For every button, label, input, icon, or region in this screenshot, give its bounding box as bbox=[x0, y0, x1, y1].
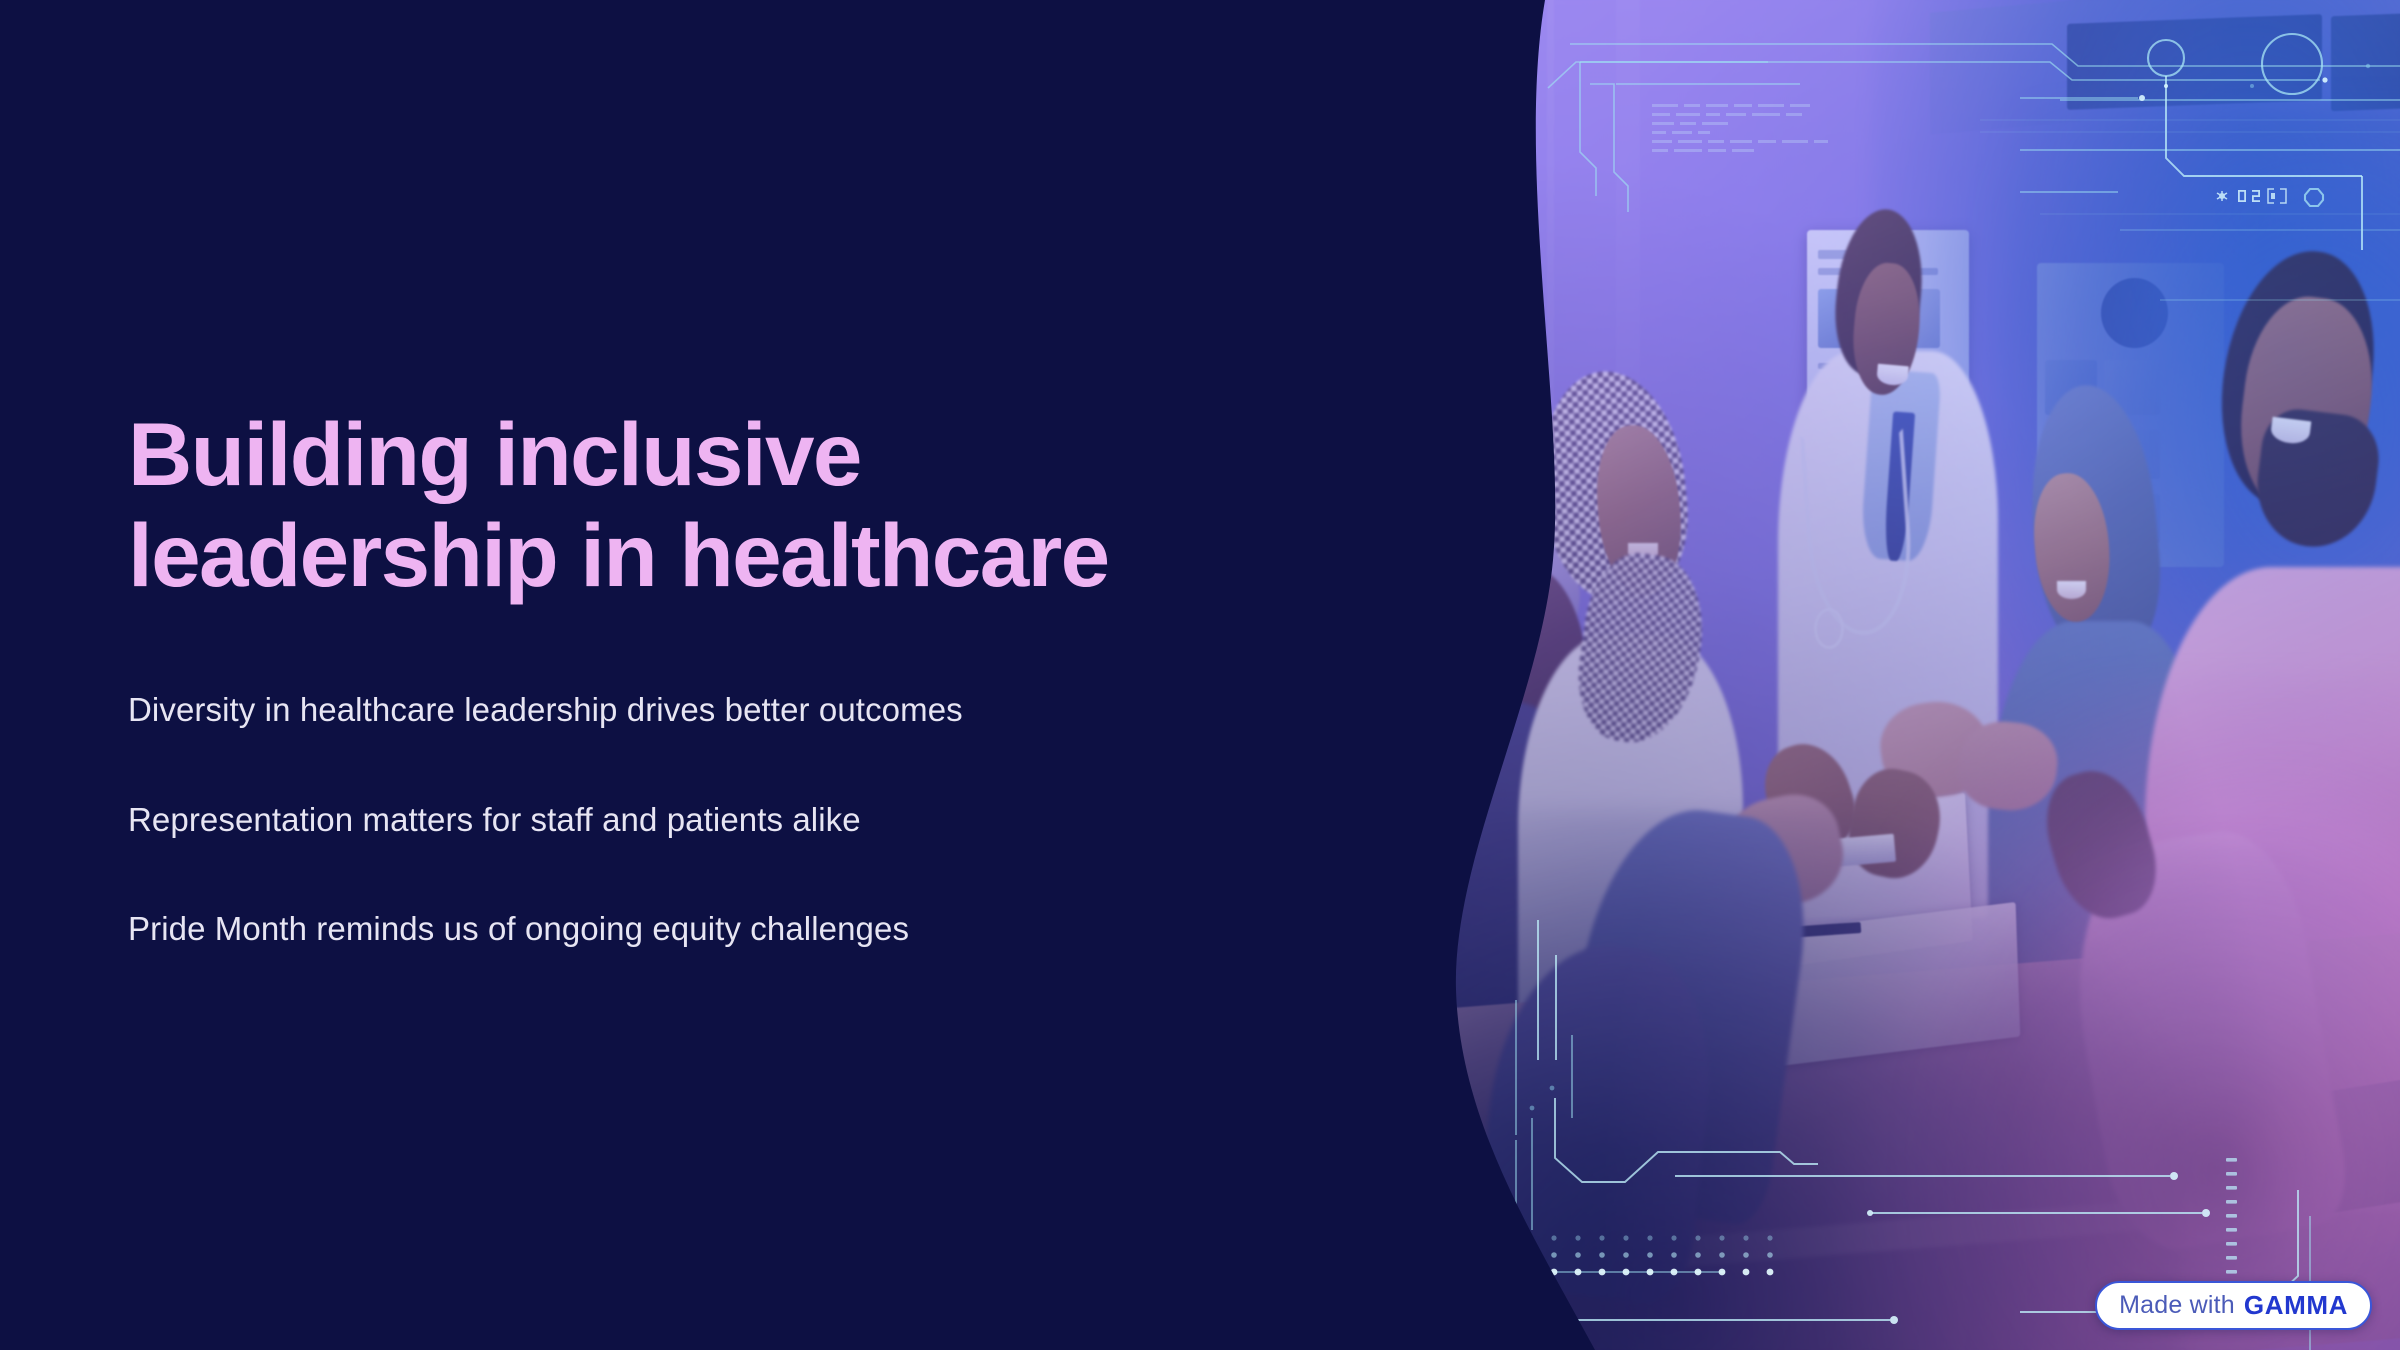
badge-made-with-label: Made with bbox=[2119, 1293, 2235, 1318]
bullet-item-1: Diversity in healthcare leadership drive… bbox=[128, 688, 1328, 733]
bullet-item-2: Representation matters for staff and pat… bbox=[128, 798, 1328, 843]
slide-heading: Building inclusive leadership in healthc… bbox=[128, 404, 1308, 607]
bullet-item-3: Pride Month reminds us of ongoing equity… bbox=[128, 907, 1328, 952]
hero-image-panel bbox=[1420, 0, 2400, 1350]
badge-gamma-wordmark: GAMMA bbox=[2244, 1292, 2348, 1318]
soft-focus-overlay bbox=[1420, 0, 2400, 1350]
text-panel: Building inclusive leadership in healthc… bbox=[0, 0, 1460, 1350]
made-with-gamma-badge[interactable]: Made with GAMMA bbox=[2095, 1281, 2372, 1330]
healthcare-team-photo bbox=[1420, 0, 2400, 1350]
slide-canvas: Building inclusive leadership in healthc… bbox=[0, 0, 2400, 1350]
bullet-list: Diversity in healthcare leadership drive… bbox=[128, 688, 1328, 952]
